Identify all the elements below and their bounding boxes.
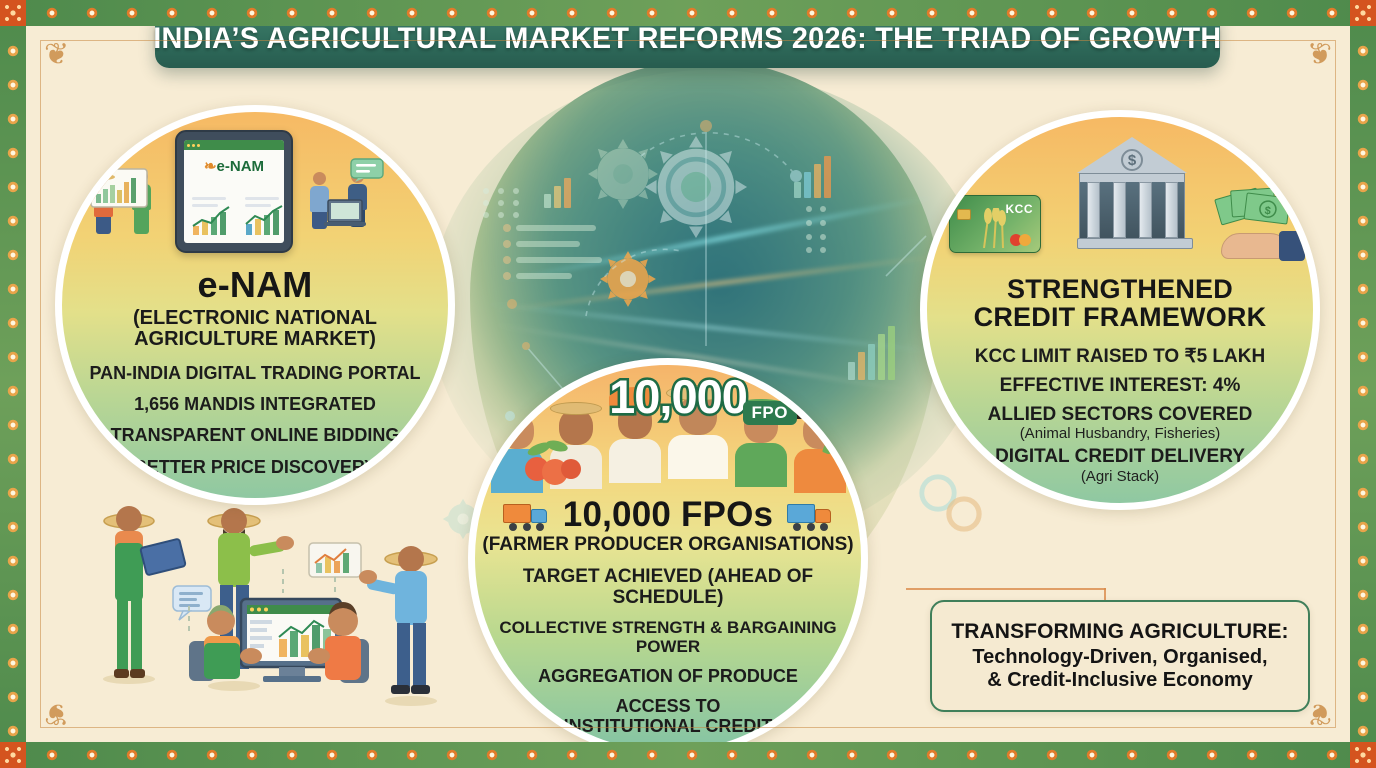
fpo-point-1: TARGET ACHIEVED (AHEAD OF SCHEDULE)	[475, 566, 861, 609]
truck-icon-right	[787, 502, 833, 528]
fpo-title: 10,000 FPOs	[563, 497, 773, 534]
credit-point-1: KCC LIMIT RAISED TO ₹5 LAKH	[975, 346, 1265, 367]
enam-point-4: BETTER PRICE DISCOVERY	[134, 457, 376, 477]
sleeve-cuff	[1279, 231, 1305, 261]
credit-point-3-note: (Animal Husbandry, Fisheries)	[1020, 425, 1221, 442]
kcc-card[interactable]: KCC	[949, 195, 1041, 253]
enam-point-2: 1,656 MANDIS INTEGRATED	[134, 394, 376, 414]
desk-monitor-scene	[189, 599, 369, 683]
border-corner-top-right	[1350, 0, 1376, 26]
credit-illustration: KCC $	[927, 117, 1313, 277]
bank-building-icon: $	[1077, 137, 1187, 252]
credit-point-2: EFFECTIVE INTEREST: 4%	[1000, 375, 1241, 396]
pillar-circle-enam[interactable]: ❧e-NAM	[55, 105, 455, 505]
browser-bar	[184, 140, 284, 150]
floating-bar-chart-icon	[309, 543, 361, 577]
summary-line-2: Technology-Driven, Organised,	[972, 646, 1267, 669]
farmer-scene-illustration	[71, 481, 471, 731]
doc-lines-left	[502, 221, 612, 291]
dollar-symbol-icon: $	[1121, 149, 1143, 171]
fpo-count-badge: 10,000 FPO	[563, 365, 793, 427]
enam-illustration: ❧e-NAM	[62, 112, 448, 272]
summary-line-1: TRANSFORMING AGRICULTURE:	[951, 620, 1288, 644]
farmer-woman-orange	[792, 407, 848, 493]
enam-subtitle-line-1: (ELECTRONIC NATIONAL	[133, 308, 377, 329]
credit-point-3: ALLIED SECTORS COVERED	[988, 404, 1253, 425]
dot-grid-right	[804, 204, 838, 254]
enam-logo: ❧e-NAM	[184, 157, 284, 175]
summary-line-3: & Credit-Inclusive Economy	[987, 669, 1253, 692]
page-title: INDIA’S AGRICULTURAL MARKET REFORMS 2026…	[153, 22, 1221, 56]
border-band-left	[0, 0, 26, 768]
svg-text:$: $	[1264, 205, 1272, 218]
farmer-right-standing	[359, 546, 437, 706]
fpo-chip-label: FPO	[743, 401, 797, 425]
produce-icon	[519, 439, 583, 489]
border-band-right	[1350, 0, 1376, 768]
enam-point-3: TRANSPARENT ONLINE BIDDING	[111, 425, 400, 445]
fpo-point-2: COLLECTIVE STRENGTH & BARGAINING POWER	[475, 618, 861, 656]
border-corner-bottom-left	[0, 742, 26, 768]
card-network-icon	[1010, 234, 1032, 246]
truck-icon-left	[503, 502, 549, 528]
fpo-tail-line-1: ACCESS TO	[616, 696, 721, 716]
speech-bubble-icon	[173, 586, 211, 620]
laptop-icon	[324, 198, 366, 228]
enam-point-1: PAN-INDIA DIGITAL TRADING PORTAL	[90, 363, 421, 383]
tablet-device[interactable]: ❧e-NAM	[175, 130, 293, 253]
pillar-circle-fpo[interactable]: 10,000 FPO 10,000 FPOs (FARMER PRODUCER …	[468, 358, 868, 742]
dot-grid-left	[481, 186, 527, 220]
border-corner-top-left	[0, 0, 26, 26]
connector-line	[906, 588, 1106, 590]
credit-point-4: DIGITAL CREDIT DELIVERY	[995, 446, 1245, 467]
summary-callout-box: TRANSFORMING AGRICULTURE: Technology-Dri…	[930, 600, 1310, 712]
enam-subtitle-line-2: AGRICULTURE MARKET)	[134, 329, 376, 350]
enam-logo-leaf-icon: ❧	[204, 158, 217, 175]
fpo-subtitle: (FARMER PRODUCER ORGANISATIONS)	[482, 535, 853, 555]
border-band-bottom	[0, 742, 1376, 768]
title-banner: INDIA’S AGRICULTURAL MARKET REFORMS 2026…	[155, 10, 1220, 68]
hat-icon	[92, 174, 115, 180]
hand-with-money: $	[1215, 189, 1301, 259]
fpo-count-number: 10,000	[609, 369, 747, 424]
fpo-illustration: 10,000 FPO	[475, 365, 861, 495]
credit-title-line-2: CREDIT FRAMEWORK	[974, 303, 1267, 331]
credit-point-4-note: (Agri Stack)	[1081, 468, 1159, 485]
banknote-3: $	[1244, 192, 1291, 224]
fpo-point-3: AGGREGATION OF PRODUCE	[538, 666, 798, 686]
credit-title-line-1: STRENGTHENED	[1007, 275, 1233, 303]
fpo-tail-line-2: INSTITUTIONAL CREDIT	[564, 716, 773, 736]
border-corner-bottom-right	[1350, 742, 1376, 768]
card-chip-icon	[957, 209, 971, 220]
chat-bubble-icon	[350, 158, 384, 182]
pillar-circle-credit[interactable]: KCC $	[920, 110, 1320, 510]
